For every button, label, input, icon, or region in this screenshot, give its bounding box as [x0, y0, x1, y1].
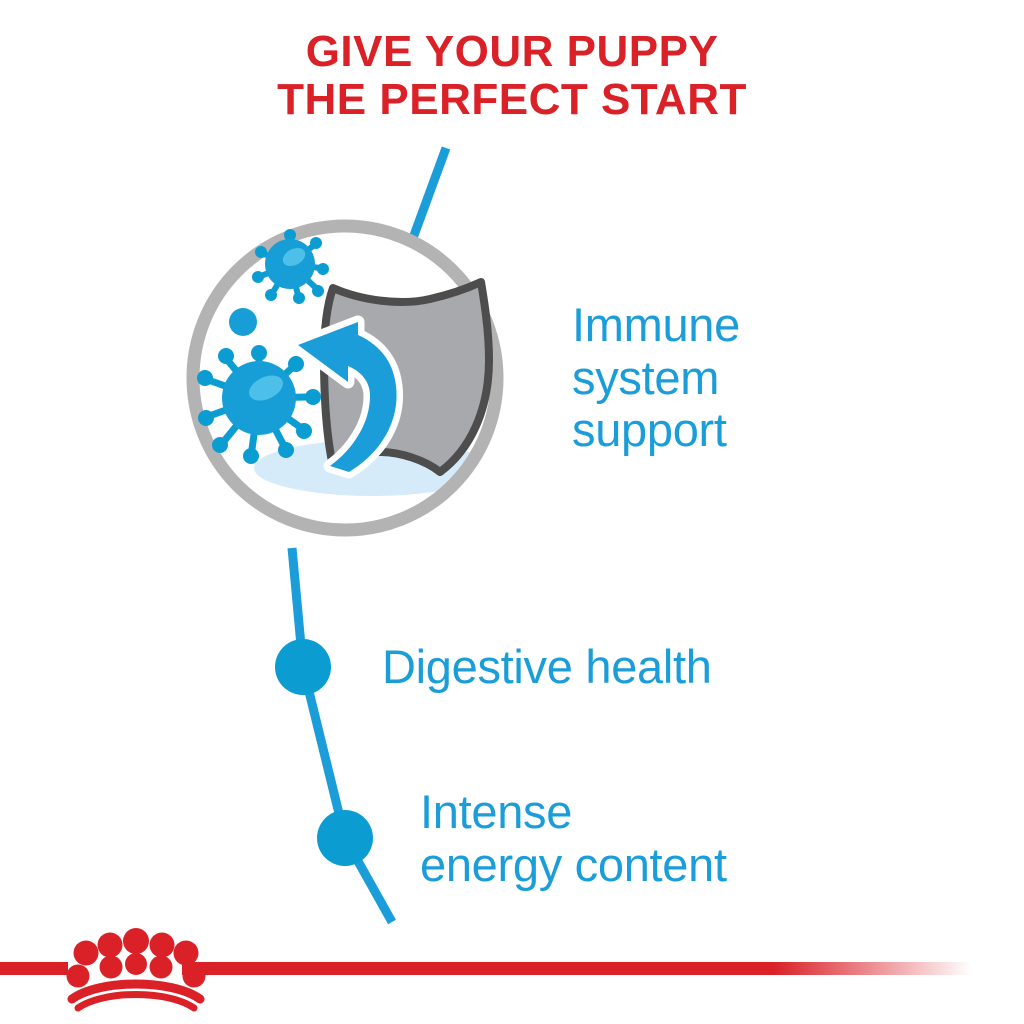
benefit-energy-line-1: Intense [420, 786, 727, 839]
benefit-digestive-line-1: Digestive health [382, 641, 712, 694]
footer-rule-left [0, 962, 68, 975]
benefit-energy-line-2: energy content [420, 839, 727, 892]
poster-root: GIVE YOUR PUPPY THE PERFECT START [0, 0, 1024, 1024]
virus-small-icon [252, 229, 329, 304]
node-dot-digestive [275, 639, 331, 695]
footer-rule-right [182, 962, 1024, 975]
node-dot-energy [317, 810, 373, 866]
benefit-immune-line-2: system [572, 352, 740, 405]
benefit-label-immune: Immune system support [572, 299, 740, 457]
benefit-immune-line-3: support [572, 404, 740, 457]
virus-particle-dot [229, 308, 257, 336]
connector-path [292, 548, 392, 922]
benefit-label-energy: Intense energy content [420, 786, 727, 891]
benefit-immune-line-1: Immune [572, 299, 740, 352]
connector-top-stub [413, 148, 446, 238]
benefit-label-digestive: Digestive health [382, 641, 712, 694]
